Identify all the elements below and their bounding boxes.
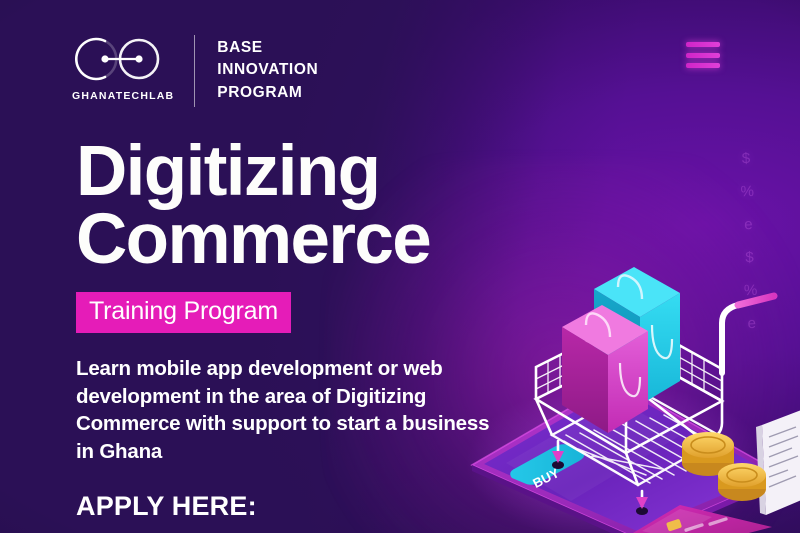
receipt-graphic — [756, 409, 800, 515]
hamburger-menu-icon[interactable] — [686, 42, 720, 68]
menu-bar-1 — [686, 42, 720, 47]
logo-wordmark: GHANATECHLAB — [72, 90, 174, 102]
program-line-base: BASE — [217, 38, 318, 58]
headline-line-1: Digitizing — [76, 138, 546, 206]
apply-here-label: APPLY HERE: — [76, 491, 546, 522]
menu-bar-3 — [686, 63, 720, 68]
menu-bar-2 — [686, 53, 720, 58]
cart-handle — [722, 296, 774, 373]
page-title: Digitizing Commerce — [76, 138, 546, 274]
hero-description: Learn mobile app development or web deve… — [76, 355, 506, 465]
training-program-badge: Training Program — [76, 292, 291, 333]
hero-copy: Digitizing Commerce Training Program Lea… — [76, 138, 546, 522]
header-divider — [194, 35, 195, 107]
ghanatechlab-infinity-icon — [75, 33, 171, 85]
brand-header: GHANATECHLAB BASE INNOVATION PROGRAM — [72, 33, 318, 107]
program-line-program: PROGRAM — [217, 83, 318, 103]
headline-line-2: Commerce — [76, 206, 546, 274]
logo-block[interactable]: GHANATECHLAB — [72, 33, 174, 102]
program-line-innovation: INNOVATION — [217, 60, 318, 80]
promo-poster: $ % e $ % e — [0, 0, 800, 533]
program-title: BASE INNOVATION PROGRAM — [217, 38, 318, 103]
